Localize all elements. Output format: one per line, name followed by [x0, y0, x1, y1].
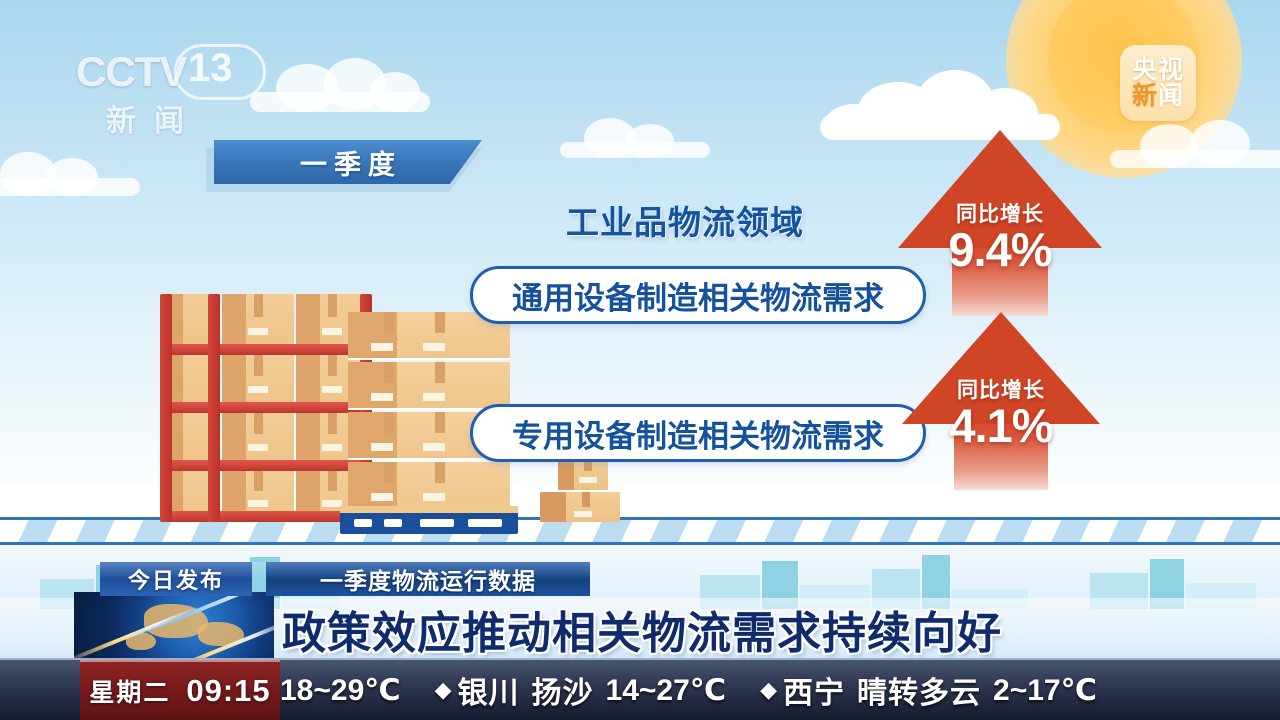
metric-pill-special-equipment: 专用设备制造相关物流需求: [470, 404, 926, 462]
cloud-far-left: [0, 150, 140, 196]
broadcast-screen: 一季度 工业品物流领域 通用设备制造相关物流需求 专用设备制造相关物流需求 同比…: [0, 0, 1280, 720]
news-headline: 政策效应推动相关物流需求持续向好: [282, 602, 1182, 656]
weather-ticker-strip: 多云 18~29℃ ◆ 银川 扬沙 14~27℃ ◆ 西宁 晴转多云 2~17℃: [280, 660, 1280, 720]
warehouse-shelf-rack: [160, 294, 372, 522]
weather-condition: 扬沙: [532, 668, 594, 712]
rack-box: [222, 412, 294, 462]
rack-box: [222, 354, 294, 404]
weather-temperature: 14~27℃: [606, 673, 727, 708]
rack-post: [208, 294, 220, 522]
metric-pill-general-equipment: 通用设备制造相关物流需求: [470, 266, 926, 324]
weather-temperature: 18~29℃: [280, 673, 401, 708]
growth-value: 9.4%: [898, 222, 1102, 277]
growth-arrow-up-4-1: 同比增长 4.1%: [902, 312, 1100, 490]
cloud-left: [250, 58, 430, 112]
blue-pallet: [340, 512, 518, 534]
cctv-news-logo-wen: 闻: [1158, 82, 1184, 110]
rack-post: [160, 294, 172, 522]
tag-topic: 一季度物流运行数据: [266, 562, 590, 596]
cctv-channel-logo: CCTV 13 新闻: [76, 48, 266, 132]
metric-pill-label: 通用设备制造相关物流需求: [512, 273, 884, 318]
tag-today-publish: 今日发布: [100, 562, 252, 596]
rack-beam: [160, 402, 372, 413]
weather-city: 西宁: [783, 668, 845, 712]
ticker-weekday: 星期二: [89, 673, 170, 709]
cctv-news-logo-xin: 新: [1132, 82, 1158, 110]
weather-city: 银川: [458, 668, 520, 712]
weather-bullet-icon: ◆: [760, 677, 777, 703]
ticker-clock: 09:15: [186, 673, 270, 709]
cctv-logo-number: 13: [188, 46, 233, 91]
weather-item: 多云 18~29℃: [280, 668, 401, 712]
cctv-news-logo-line2: 新闻: [1132, 83, 1184, 109]
weather-item: ◆ 西宁 晴转多云 2~17℃: [760, 668, 1097, 712]
sector-title: 工业品物流领域: [566, 196, 804, 244]
rack-box: [222, 294, 294, 346]
pallet-box: [348, 462, 510, 510]
news-globe-graphic: [74, 592, 274, 658]
growth-arrow-up-9-4: 同比增长 9.4%: [898, 130, 1102, 316]
cctv-logo-text: CCTV: [76, 48, 186, 96]
cctv-logo-sub: 新闻: [106, 96, 202, 140]
small-box: [540, 492, 620, 522]
quarter-banner: 一季度: [214, 140, 482, 184]
weather-bullet-icon: ◆: [435, 677, 452, 703]
small-box-stack: [540, 452, 620, 520]
quarter-banner-label: 一季度: [294, 143, 402, 182]
cctv-news-app-logo: 央视 新闻: [1120, 45, 1196, 121]
weather-condition: 晴转多云: [857, 668, 981, 712]
pallet-box: [348, 362, 510, 410]
weather-item: ◆ 银川 扬沙 14~27℃: [435, 668, 727, 712]
cctv-news-logo-line1: 央视: [1132, 57, 1184, 83]
cloud-mid-low: [560, 118, 710, 158]
cloud-right-edge: [1110, 120, 1280, 168]
tag-topic-label: 一季度物流运行数据: [320, 562, 536, 596]
growth-value: 4.1%: [902, 398, 1100, 453]
ticker-datetime-box: 星期二 09:15: [80, 660, 280, 720]
rack-beam: [160, 344, 372, 355]
weather-temperature: 2~17℃: [993, 673, 1097, 708]
metric-pill-label: 专用设备制造相关物流需求: [512, 411, 884, 456]
rack-beam: [160, 460, 372, 471]
tag-today-label: 今日发布: [128, 563, 224, 595]
